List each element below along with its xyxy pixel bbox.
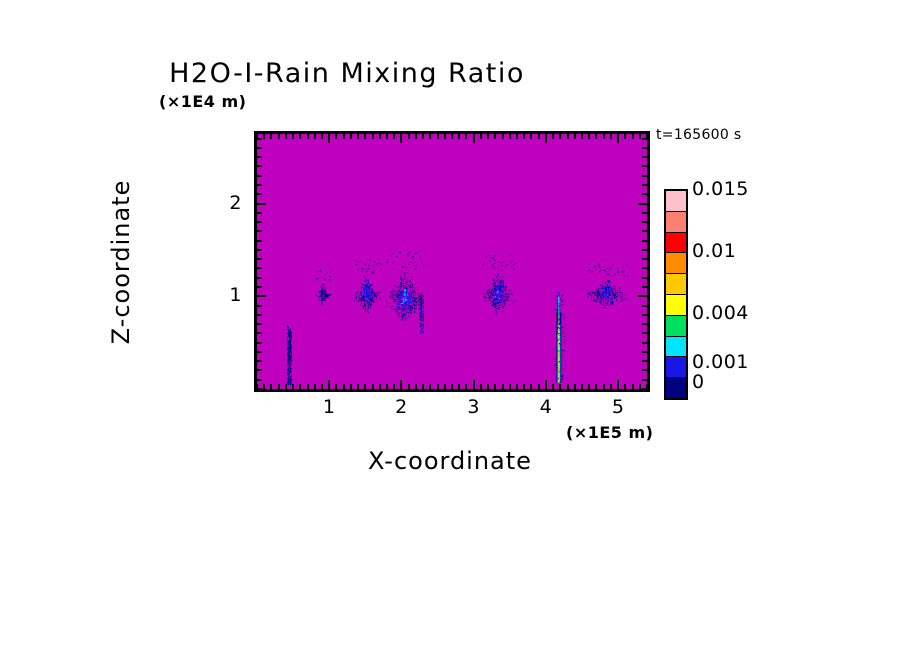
plot-area[interactable] <box>254 131 650 392</box>
x-tick-top-2.8 <box>458 134 460 139</box>
x-tick-top-3.7 <box>523 134 525 139</box>
x-tick-4.8 <box>603 384 605 389</box>
x-tick-top-2.5 <box>437 134 439 139</box>
y-tick-right-1.8 <box>642 221 647 223</box>
x-tick-4 <box>545 380 547 389</box>
y-tick-right-1.5 <box>642 249 647 251</box>
y-tick-right-2.2 <box>642 184 647 186</box>
y-tick-label-1: 1 <box>212 284 242 306</box>
x-tick-2.2 <box>415 384 417 389</box>
y-tick-right-1 <box>638 295 647 297</box>
x-tick-top-4.6 <box>588 134 590 139</box>
x-tick-3 <box>473 380 475 389</box>
y-tick-2.5 <box>257 156 262 158</box>
x-tick-top-3.6 <box>516 134 518 139</box>
x-tick-top-0.5 <box>292 134 294 139</box>
y-tick-0.5 <box>257 342 262 344</box>
colorbar-band-green <box>666 316 686 337</box>
x-tick-0.9 <box>321 384 323 389</box>
colorbar-band-blue <box>666 357 686 378</box>
x-tick-2.3 <box>422 384 424 389</box>
x-tick-label-4: 4 <box>526 396 566 418</box>
x-tick-1.1 <box>335 384 337 389</box>
x-tick-top-4 <box>545 134 547 143</box>
y-tick-right-0.9 <box>642 305 647 307</box>
x-tick-4.4 <box>574 384 576 389</box>
y-tick-2.2 <box>257 184 262 186</box>
x-tick-top-1 <box>328 134 330 143</box>
colorbar-band-salmon <box>666 212 686 233</box>
x-tick-top-4.2 <box>559 134 561 139</box>
y-tick-right-1.1 <box>642 286 647 288</box>
y-tick-1.7 <box>257 230 262 232</box>
x-tick-0.2 <box>270 384 272 389</box>
x-tick-top-3.4 <box>502 134 504 139</box>
y-tick-1.3 <box>257 267 262 269</box>
colorbar-label-0_015: 0.015 <box>692 178 749 200</box>
x-tick-top-3.1 <box>480 134 482 139</box>
x-tick-4.5 <box>581 384 583 389</box>
x-tick-top-1.1 <box>335 134 337 139</box>
y-axis-title: Z-coordinate <box>107 112 135 412</box>
x-tick-top-3.8 <box>530 134 532 139</box>
x-tick-3.4 <box>502 384 504 389</box>
x-tick-top-2.1 <box>408 134 410 139</box>
x-tick-top-2 <box>400 134 402 143</box>
x-tick-top-0.1 <box>263 134 265 139</box>
x-tick-2.8 <box>458 384 460 389</box>
x-tick-0.7 <box>307 384 309 389</box>
colorbar-band-yellow <box>666 295 686 316</box>
x-tick-0.3 <box>278 384 280 389</box>
colorbar-label-0_01: 0.01 <box>692 240 736 262</box>
y-tick-0.8 <box>257 314 262 316</box>
y-tick-1.5 <box>257 249 262 251</box>
x-tick-top-4.1 <box>552 134 554 139</box>
colorbar-label-0: 0 <box>692 371 705 393</box>
x-tick-top-3.9 <box>538 134 540 139</box>
x-tick-top-4.8 <box>603 134 605 139</box>
y-tick-2.7 <box>257 138 262 140</box>
y-tick-right-1.3 <box>642 267 647 269</box>
x-tick-3.3 <box>494 384 496 389</box>
x-tick-top-5 <box>617 134 619 143</box>
x-tick-top-1.2 <box>343 134 345 139</box>
x-axis-unit-label: (×1E5 m) <box>566 423 653 442</box>
x-tick-top-3.5 <box>509 134 511 139</box>
x-tick-top-0.3 <box>278 134 280 139</box>
x-axis-title-text: X-coordinate <box>368 447 532 475</box>
x-tick-4.7 <box>595 384 597 389</box>
x-tick-top-1.3 <box>350 134 352 139</box>
x-tick-top-1.9 <box>393 134 395 139</box>
x-tick-0.6 <box>299 384 301 389</box>
y-axis-unit-label: (×1E4 m) <box>159 92 246 111</box>
y-tick-right-2.1 <box>642 193 647 195</box>
x-tick-2.1 <box>408 384 410 389</box>
y-tick-right-0.7 <box>642 323 647 325</box>
x-tick-1.8 <box>386 384 388 389</box>
x-tick-1 <box>328 380 330 389</box>
x-tick-3.9 <box>538 384 540 389</box>
x-tick-3.8 <box>530 384 532 389</box>
y-tick-right-0.5 <box>642 342 647 344</box>
y-tick-right-1.4 <box>642 258 647 260</box>
y-tick-right-0.3 <box>642 360 647 362</box>
y-tick-0.2 <box>257 369 262 371</box>
colorbar-band-cyan <box>666 337 686 358</box>
y-tick-right-0.8 <box>642 314 647 316</box>
x-tick-5.1 <box>624 384 626 389</box>
colorbar-band-amber <box>666 274 686 295</box>
x-tick-4.3 <box>567 384 569 389</box>
page-title: H2O-I-Rain Mixing Ratio <box>0 58 904 89</box>
y-tick-label-2: 2 <box>212 192 242 214</box>
x-tick-3.5 <box>509 384 511 389</box>
y-tick-1.2 <box>257 277 262 279</box>
x-tick-0.8 <box>314 384 316 389</box>
x-tick-top-1.4 <box>357 134 359 139</box>
x-tick-top-5.2 <box>632 134 634 139</box>
x-tick-1.6 <box>372 384 374 389</box>
x-tick-0.4 <box>285 384 287 389</box>
y-tick-right-2.4 <box>642 165 647 167</box>
x-tick-5.3 <box>639 384 641 389</box>
x-tick-top-1.5 <box>364 134 366 139</box>
y-tick-right-0.4 <box>642 351 647 353</box>
x-tick-top-0.4 <box>285 134 287 139</box>
x-tick-1.5 <box>364 384 366 389</box>
y-tick-0.1 <box>257 379 262 381</box>
y-tick-1.6 <box>257 240 262 242</box>
x-tick-top-0.2 <box>270 134 272 139</box>
x-tick-2.5 <box>437 384 439 389</box>
y-tick-right-1.7 <box>642 230 647 232</box>
x-tick-0.5 <box>292 384 294 389</box>
y-tick-right-2.3 <box>642 175 647 177</box>
y-tick-right-2 <box>638 203 647 205</box>
y-tick-0.3 <box>257 360 262 362</box>
colorbar-label-0_004: 0.004 <box>692 302 749 324</box>
x-tick-top-3.3 <box>494 134 496 139</box>
y-tick-right-1.2 <box>642 277 647 279</box>
y-tick-2.1 <box>257 193 262 195</box>
x-tick-3.1 <box>480 384 482 389</box>
x-tick-1.4 <box>357 384 359 389</box>
x-tick-top-3 <box>473 134 475 143</box>
y-tick-2.6 <box>257 147 262 149</box>
y-tick-right-2.6 <box>642 147 647 149</box>
x-tick-0.1 <box>263 384 265 389</box>
x-tick-1.9 <box>393 384 395 389</box>
x-tick-top-2.2 <box>415 134 417 139</box>
x-tick-top-1.8 <box>386 134 388 139</box>
x-tick-top-2.6 <box>444 134 446 139</box>
x-tick-top-0.9 <box>321 134 323 139</box>
x-tick-top-0.8 <box>314 134 316 139</box>
x-tick-top-0.6 <box>299 134 301 139</box>
y-tick-0.4 <box>257 351 262 353</box>
x-tick-label-2: 2 <box>381 396 421 418</box>
y-tick-2 <box>257 203 266 205</box>
y-tick-right-0.1 <box>642 379 647 381</box>
y-tick-right-0 <box>642 388 647 390</box>
x-tick-1.3 <box>350 384 352 389</box>
x-tick-2.4 <box>429 384 431 389</box>
x-tick-top-4.4 <box>574 134 576 139</box>
y-tick-0.6 <box>257 332 262 334</box>
x-tick-label-5: 5 <box>598 396 638 418</box>
figure-canvas: H2O-I-Rain Mixing Ratio (×1E4 m) t=16560… <box>0 0 904 654</box>
x-tick-top-5.3 <box>639 134 641 139</box>
y-tick-0.9 <box>257 305 262 307</box>
x-tick-2 <box>400 380 402 389</box>
x-tick-top-3.2 <box>487 134 489 139</box>
x-tick-2.7 <box>451 384 453 389</box>
x-axis-title: X-coordinate <box>0 447 904 475</box>
x-tick-label-3: 3 <box>454 396 494 418</box>
colorbar-band-red <box>666 233 686 254</box>
colorbar-band-pink <box>666 191 686 212</box>
x-tick-1.7 <box>379 384 381 389</box>
x-tick-top-2.3 <box>422 134 424 139</box>
time-annotation: t=165600 s <box>656 127 741 143</box>
y-tick-1.4 <box>257 258 262 260</box>
x-tick-top-1.6 <box>372 134 374 139</box>
x-tick-1.2 <box>343 384 345 389</box>
y-tick-right-1.6 <box>642 240 647 242</box>
x-tick-4.1 <box>552 384 554 389</box>
y-tick-right-2.5 <box>642 156 647 158</box>
x-tick-top-5.1 <box>624 134 626 139</box>
y-tick-0.7 <box>257 323 262 325</box>
y-tick-right-1.9 <box>642 212 647 214</box>
x-tick-top-4.3 <box>567 134 569 139</box>
y-tick-right-0.6 <box>642 332 647 334</box>
heatmap-field <box>257 134 647 389</box>
x-tick-4.6 <box>588 384 590 389</box>
x-tick-top-4.7 <box>595 134 597 139</box>
x-tick-top-2.9 <box>465 134 467 139</box>
x-tick-3.7 <box>523 384 525 389</box>
x-tick-2.9 <box>465 384 467 389</box>
y-tick-right-0.2 <box>642 369 647 371</box>
x-tick-5 <box>617 380 619 389</box>
y-tick-1.9 <box>257 212 262 214</box>
x-tick-top-2.7 <box>451 134 453 139</box>
plot-title-text: H2O-I-Rain Mixing Ratio <box>169 58 525 89</box>
y-tick-1.8 <box>257 221 262 223</box>
y-tick-2.4 <box>257 165 262 167</box>
x-tick-top-4.9 <box>610 134 612 139</box>
x-tick-top-4.5 <box>581 134 583 139</box>
x-tick-top-2.4 <box>429 134 431 139</box>
x-tick-2.6 <box>444 384 446 389</box>
y-tick-1.1 <box>257 286 262 288</box>
colorbar-band-navy <box>666 378 686 398</box>
colorbar-band-orange <box>666 253 686 274</box>
x-tick-top-0.7 <box>307 134 309 139</box>
colorbar[interactable] <box>664 189 688 400</box>
x-tick-3.2 <box>487 384 489 389</box>
x-tick-3.6 <box>516 384 518 389</box>
x-tick-4.9 <box>610 384 612 389</box>
y-tick-1 <box>257 295 266 297</box>
x-tick-5.2 <box>632 384 634 389</box>
x-tick-label-1: 1 <box>309 396 349 418</box>
y-tick-right-2.7 <box>642 138 647 140</box>
x-tick-top-1.7 <box>379 134 381 139</box>
y-tick-2.3 <box>257 175 262 177</box>
y-tick-0 <box>257 388 262 390</box>
x-tick-4.2 <box>559 384 561 389</box>
